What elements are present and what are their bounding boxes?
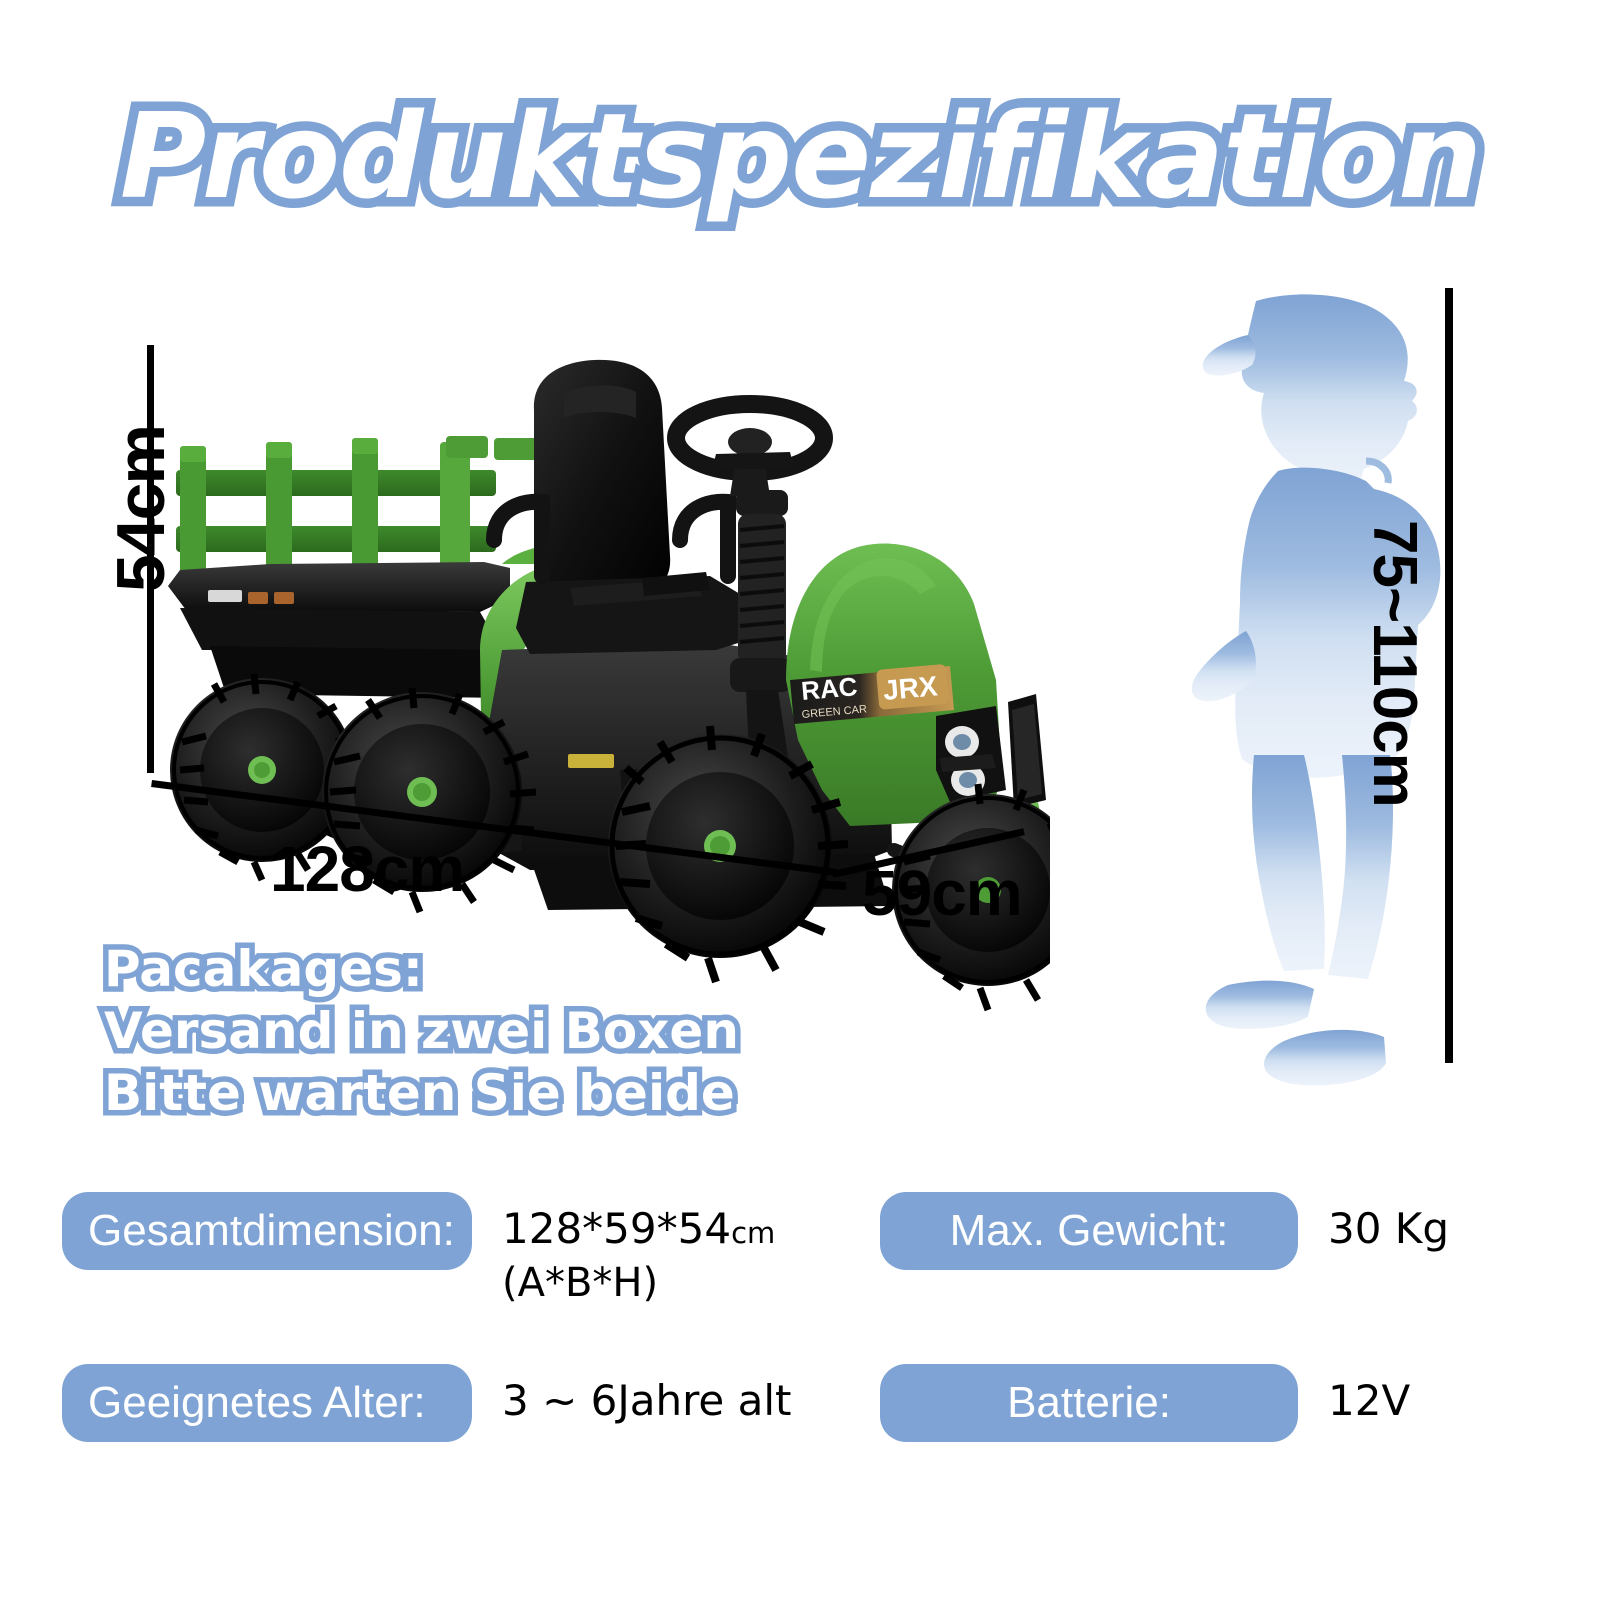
spec-label-gesamtdimension: Gesamtdimension:: [62, 1192, 472, 1270]
width-dimension-label: 59cm: [862, 856, 1022, 930]
spec-value-max-gewicht: 30 Kg: [1328, 1192, 1449, 1254]
height-dimension-label: 54cm: [102, 426, 180, 592]
child-height-dimension-line: [1445, 288, 1453, 1063]
spec-value-batterie: 12V: [1328, 1364, 1410, 1426]
headlights: [936, 706, 1006, 802]
packages-heading: Pacakages:: [104, 938, 744, 1000]
spec-value-geeignetes-alter: 3 ~ 6Jahre alt: [502, 1364, 792, 1426]
spec-value-gesamtdimension-unit: cm: [731, 1216, 775, 1250]
spec-batterie: Batterie: 12V: [880, 1364, 1410, 1464]
child-height-dimension-label: 75~110cm: [1359, 520, 1430, 807]
spec-value-gesamtdimension-note: (A*B*H): [502, 1258, 775, 1308]
trailer-bed: [168, 562, 510, 612]
packages-line-2: Versand in zwei Boxen: [104, 1000, 744, 1062]
hood-decal-main: RAC: [800, 671, 859, 706]
spec-value-gesamtdimension: 128*59*54cm (A*B*H): [502, 1192, 775, 1308]
spec-value-gesamtdimension-number: 128*59*54: [502, 1204, 731, 1253]
spec-label-geeignetes-alter: Geeignetes Alter:: [62, 1364, 472, 1442]
specification-table: Gesamtdimension: 128*59*54cm (A*B*H) Max…: [0, 1192, 1601, 1536]
packages-line-3: Bitte warten Sie beide: [104, 1062, 744, 1124]
spec-max-gewicht: Max. Gewicht: 30 Kg: [880, 1192, 1449, 1292]
spec-geeignetes-alter: Geeignetes Alter: 3 ~ 6Jahre alt: [62, 1364, 792, 1464]
page-title: Produktspezifikation: [0, 86, 1601, 226]
steering-wheel: [676, 404, 824, 496]
packages-note: Pacakages: Versand in zwei Boxen Bitte w…: [104, 938, 744, 1124]
front-grille: [1008, 694, 1046, 808]
spec-label-batterie: Batterie:: [880, 1364, 1298, 1442]
spec-label-max-gewicht: Max. Gewicht:: [880, 1192, 1298, 1270]
hood-decal-badge: JRX: [882, 670, 939, 706]
grab-handle-rear: [494, 502, 542, 576]
length-dimension-label: 128cm: [270, 832, 464, 906]
spec-gesamtdimension: Gesamtdimension: 128*59*54cm (A*B*H): [62, 1192, 775, 1292]
spec-row-2: Geeignetes Alter: 3 ~ 6Jahre alt Batteri…: [0, 1364, 1601, 1536]
spec-row-1: Gesamtdimension: 128*59*54cm (A*B*H) Max…: [0, 1192, 1601, 1364]
grab-handle-front: [680, 502, 728, 576]
